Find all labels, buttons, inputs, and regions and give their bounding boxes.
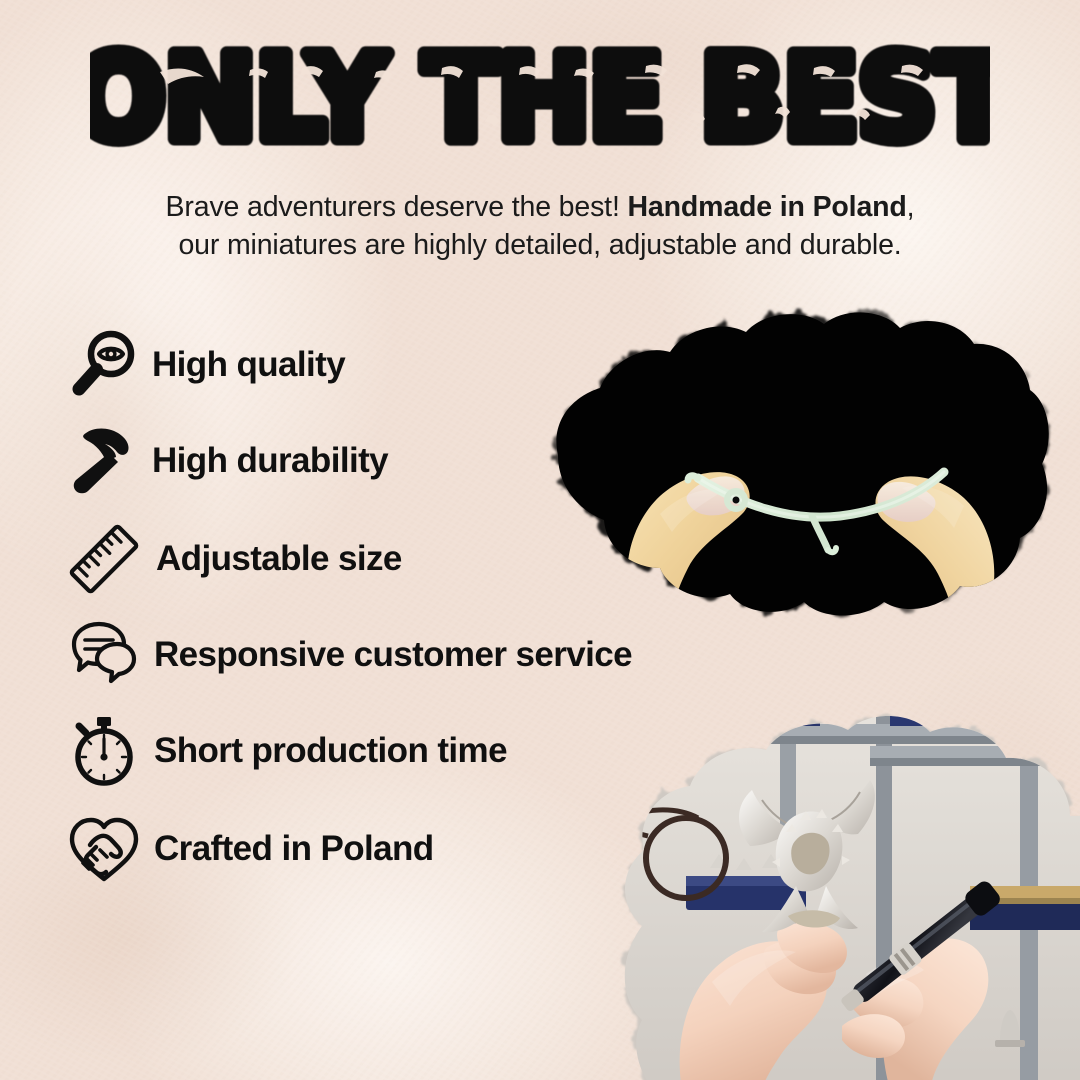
feature-item-high-quality[interactable]: High quality bbox=[62, 324, 822, 406]
magnifier-eye-icon bbox=[62, 323, 146, 407]
feature-label: Adjustable size bbox=[156, 539, 402, 579]
page-title: ONLY THE BEST bbox=[0, 38, 1080, 163]
feature-label: Crafted in Poland bbox=[154, 829, 434, 869]
feature-label: High durability bbox=[152, 441, 388, 481]
feature-label: Short production time bbox=[154, 731, 507, 771]
feature-label: High quality bbox=[152, 345, 345, 385]
ruler-icon bbox=[62, 517, 146, 601]
stopwatch-icon bbox=[62, 709, 146, 793]
subtitle-line1-suffix: , bbox=[907, 191, 915, 223]
feature-item-production-time[interactable]: Short production time bbox=[62, 710, 822, 792]
poster-canvas: ONLY THE BEST bbox=[0, 0, 1080, 1080]
handshake-heart-icon bbox=[62, 807, 146, 891]
page-title-block: ONLY THE BEST bbox=[0, 38, 1080, 163]
subtitle-line1-bold: Handmade in Poland bbox=[628, 191, 907, 223]
speech-bubbles-icon bbox=[62, 613, 146, 697]
feature-item-adjustable-size[interactable]: Adjustable size bbox=[62, 518, 822, 600]
subtitle-line-2: our miniatures are highly detailed, adju… bbox=[0, 226, 1080, 264]
feature-label: Responsive customer service bbox=[154, 635, 632, 675]
hammer-icon bbox=[62, 419, 146, 503]
feature-item-customer-service[interactable]: Responsive customer service bbox=[62, 614, 822, 696]
subtitle: Brave adventurers deserve the best! Hand… bbox=[0, 188, 1080, 264]
subtitle-line1-prefix: Brave adventurers deserve the best! bbox=[166, 191, 628, 223]
feature-item-high-durability[interactable]: High durability bbox=[62, 420, 822, 502]
feature-item-crafted-in-poland[interactable]: Crafted in Poland bbox=[62, 806, 822, 892]
svg-text:ONLY THE BEST: ONLY THE BEST bbox=[90, 38, 990, 163]
feature-list: High quality High durability bbox=[62, 324, 822, 892]
subtitle-line-1: Brave adventurers deserve the best! Hand… bbox=[0, 188, 1080, 226]
